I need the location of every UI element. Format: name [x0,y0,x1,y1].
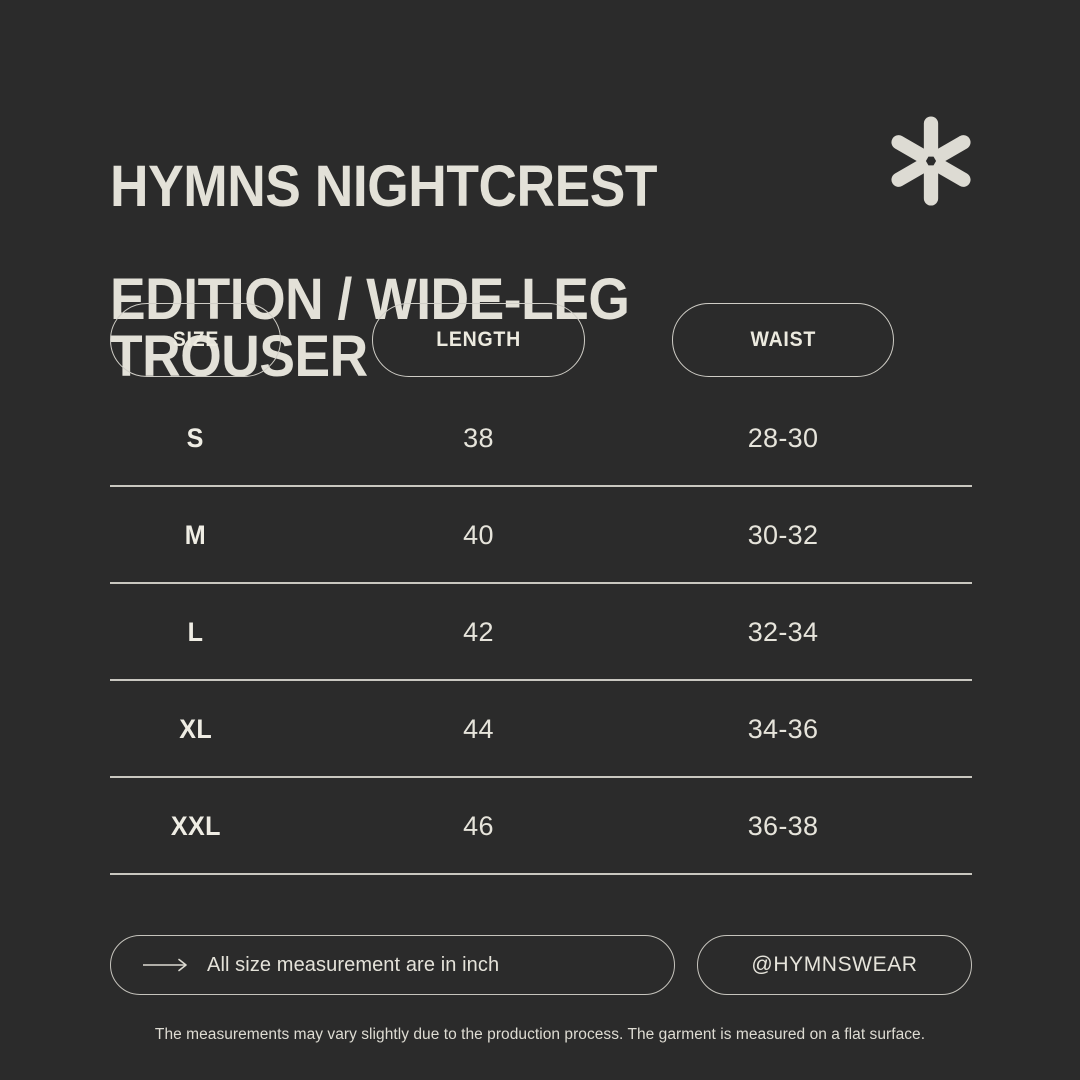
footer: All size measurement are in inch @HYMNSW… [110,935,972,995]
column-header-waist-label: WAIST [750,328,816,352]
cell-length-value: 44 [463,714,494,745]
cell-size: L [110,584,281,681]
cell-waist: 36-38 [672,778,894,875]
cell-waist: 28-30 [672,390,894,487]
social-handle-label: @HYMNSWEAR [751,953,917,977]
cell-waist: 34-36 [672,681,894,778]
arrow-right-icon [143,958,189,972]
cell-size: S [110,390,281,487]
cell-waist: 30-32 [672,487,894,584]
column-header-waist[interactable]: WAIST [672,303,894,377]
size-table: S 38 28-30 M 40 30-32 L [110,390,972,875]
cell-waist-value: 36-38 [748,811,819,842]
social-handle-pill[interactable]: @HYMNSWEAR [697,935,972,995]
cell-size-value: M [185,520,206,551]
cell-size-value: XL [179,714,212,745]
table-row: XL 44 34-36 [110,681,972,778]
size-chart-canvas: HYMNS NIGHTCREST EDITION / WIDE-LEG TROU… [0,0,1080,1080]
cell-size-value: S [187,423,204,454]
cell-length: 46 [372,778,585,875]
column-header-length-label: LENGTH [436,328,521,352]
measurement-note-label: All size measurement are in inch [207,954,499,977]
cell-length-value: 46 [463,811,494,842]
cell-length-value: 38 [463,423,494,454]
table-row: XXL 46 36-38 [110,778,972,875]
column-header-size-label: SIZE [172,328,218,352]
row-divider [110,873,972,875]
cell-waist-value: 34-36 [748,714,819,745]
column-header-pills: SIZE LENGTH WAIST [110,303,972,377]
cell-size: XL [110,681,281,778]
page-title-line-1: HYMNS NIGHTCREST [110,159,815,216]
cell-size-value: XXL [171,811,221,842]
measurement-note-pill[interactable]: All size measurement are in inch [110,935,675,995]
cell-length: 44 [372,681,585,778]
cell-waist-value: 30-32 [748,520,819,551]
cell-length-value: 42 [463,617,494,648]
cell-waist-value: 28-30 [748,423,819,454]
table-row: L 42 32-34 [110,584,972,681]
cell-size: XXL [110,778,281,875]
cell-length: 40 [372,487,585,584]
cell-waist-value: 32-34 [748,617,819,648]
disclaimer-text: The measurements may vary slightly due t… [0,1026,1080,1044]
cell-waist: 32-34 [672,584,894,681]
cell-length-value: 40 [463,520,494,551]
table-row: M 40 30-32 [110,487,972,584]
table-row: S 38 28-30 [110,390,972,487]
column-header-length[interactable]: LENGTH [372,303,585,377]
cell-length: 38 [372,390,585,487]
cell-length: 42 [372,584,585,681]
column-header-size[interactable]: SIZE [110,303,281,377]
cell-size: M [110,487,281,584]
asterisk-icon [876,106,986,216]
cell-size-value: L [188,617,204,648]
